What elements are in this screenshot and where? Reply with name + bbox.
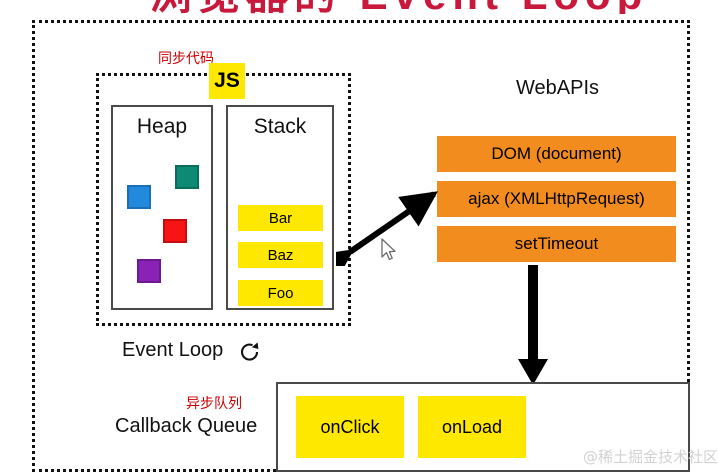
stack-frame-bar: Bar <box>238 205 323 231</box>
webapis-title: WebAPIs <box>440 77 675 100</box>
watermark: @稀土掘金技术社区 <box>583 446 718 467</box>
annotation-sync-code: 同步代码 <box>158 48 214 68</box>
stack-frame-baz: Baz <box>238 242 323 268</box>
heap-object-red <box>163 219 187 243</box>
callback-item-onload: onLoad <box>418 396 526 458</box>
event-loop-label: Event Loop <box>122 339 223 362</box>
mouse-pointer-icon <box>381 238 397 262</box>
stack-title: Stack <box>228 115 332 139</box>
heap-object-purple <box>137 259 161 283</box>
heap-object-blue <box>127 185 151 209</box>
webapi-dom: DOM (document) <box>437 136 676 172</box>
annotation-async-queue: 异步队列 <box>186 393 242 413</box>
js-badge: JS <box>209 63 245 99</box>
webapi-settimeout: setTimeout <box>437 226 676 262</box>
heap-object-teal <box>175 165 199 189</box>
page-title: 浏览器的 Event Loop <box>150 0 648 14</box>
stack-panel: Stack Bar Baz Foo <box>226 105 334 310</box>
down-arrow-icon <box>516 265 550 387</box>
heap-title: Heap <box>113 115 211 139</box>
title-strip: 浏览器的 Event Loop <box>0 0 718 14</box>
webapi-ajax: ajax (XMLHttpRequest) <box>437 181 676 217</box>
circular-arrow-icon <box>239 341 261 363</box>
callback-queue-label: Callback Queue <box>115 415 257 438</box>
stack-frame-foo: Foo <box>238 280 323 306</box>
diagram-canvas: 浏览器的 Event Loop JS 同步代码 异步队列 Heap Stack … <box>0 0 718 474</box>
heap-panel: Heap <box>111 105 213 310</box>
callback-item-onclick: onClick <box>296 396 404 458</box>
